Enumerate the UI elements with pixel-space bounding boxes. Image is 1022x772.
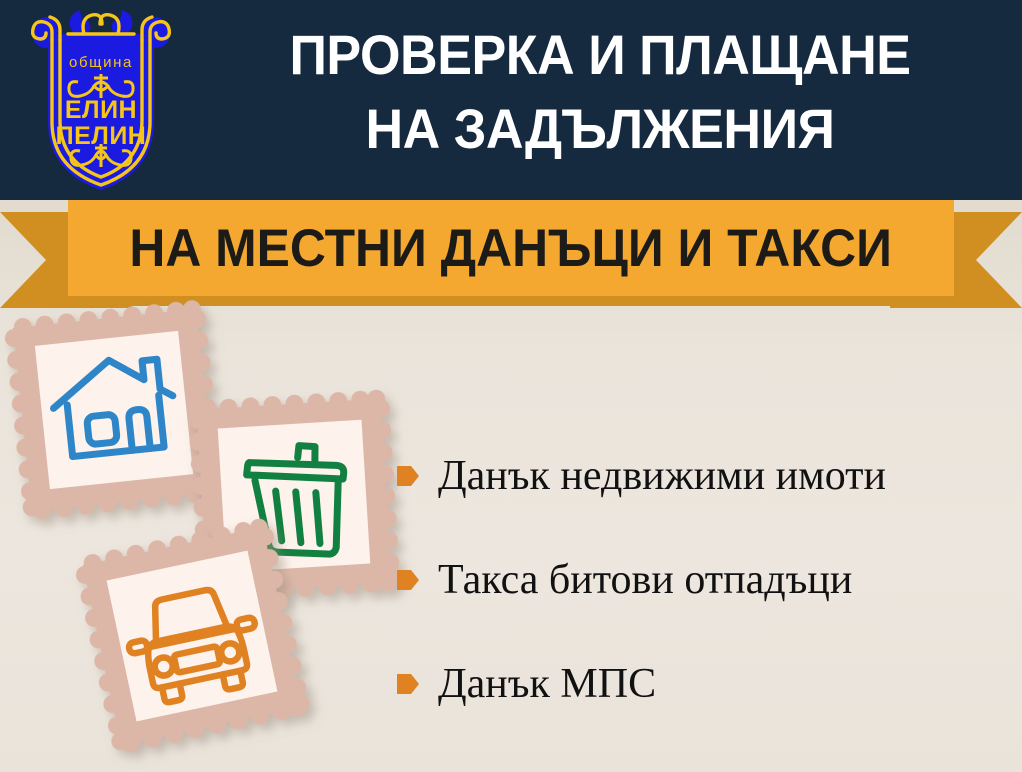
list-item-label: Такса битови отпадъци xyxy=(438,557,852,603)
page-title: ПРОВЕРКА И ПЛАЩАНЕ НА ЗАДЪЛЖЕНИЯ xyxy=(219,18,982,166)
svg-text:община: община xyxy=(69,54,133,71)
arrow-right-bullet-icon xyxy=(396,567,420,593)
arrow-right-bullet-icon xyxy=(396,671,420,697)
arrow-right-bullet-icon xyxy=(396,463,420,489)
poster-root: община ЕЛИН ПЕЛИН ПРОВЕРКА И ПЛАЩАНЕ НА … xyxy=(0,0,1022,772)
municipality-crest-logo: община ЕЛИН ПЕЛИН xyxy=(22,4,180,196)
ribbon-banner: НА МЕСТНИ ДАНЪЦИ И ТАКСИ xyxy=(68,200,954,296)
page-title-line-1: ПРОВЕРКА И ПЛАЩАНЕ xyxy=(289,23,910,86)
services-list: Данък недвижими имоти Такса битови отпад… xyxy=(396,424,1006,736)
list-item-label: Данък недвижими имоти xyxy=(438,453,886,499)
list-item[interactable]: Данък недвижими имоти xyxy=(396,424,1006,528)
page-title-line-2: НА ЗАДЪЛЖЕНИЯ xyxy=(219,92,982,166)
stamp-card-property xyxy=(6,302,221,517)
subtitle-ribbon: НА МЕСТНИ ДАНЪЦИ И ТАКСИ xyxy=(0,196,1022,308)
ribbon-label: НА МЕСТНИ ДАНЪЦИ И ТАКСИ xyxy=(130,222,893,275)
stamp-card-vehicle xyxy=(76,520,308,752)
list-item-label: Данък МПС xyxy=(438,661,656,707)
header-bar: община ЕЛИН ПЕЛИН ПРОВЕРКА И ПЛАЩАНЕ НА … xyxy=(0,0,1022,200)
list-item[interactable]: Такса битови отпадъци xyxy=(396,528,1006,632)
svg-text:ЕЛИН: ЕЛИН xyxy=(65,96,137,124)
svg-text:ПЕЛИН: ПЕЛИН xyxy=(56,122,147,150)
list-item[interactable]: Данък МПС xyxy=(396,632,1006,736)
